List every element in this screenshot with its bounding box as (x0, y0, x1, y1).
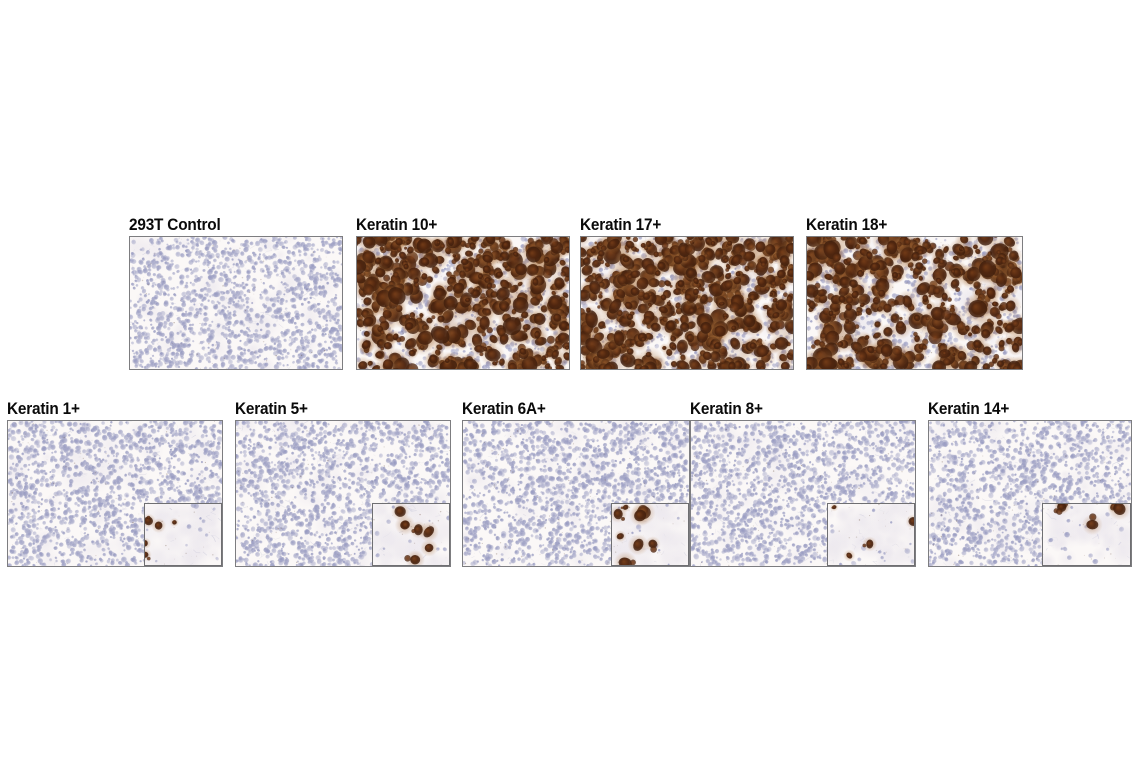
micrograph-image (690, 420, 916, 567)
micrograph-image (806, 236, 1023, 370)
micrograph-canvas (807, 237, 1022, 369)
magnified-inset (1042, 503, 1131, 566)
panel-label: Keratin 18+ (806, 217, 887, 234)
cell-field (357, 237, 569, 369)
panel-label: Keratin 8+ (690, 401, 763, 418)
panel-label: Keratin 5+ (235, 401, 308, 418)
figure-root: 293T ControlKeratin 10+Keratin 17+Kerati… (0, 0, 1141, 768)
micrograph-image (7, 420, 223, 567)
cell-field (581, 237, 793, 369)
panel-keratin-14: Keratin 14+ (928, 420, 1132, 567)
inset-canvas (1043, 504, 1130, 565)
micrograph-image (356, 236, 570, 370)
micrograph-canvas (581, 237, 793, 369)
panel-label: Keratin 17+ (580, 217, 661, 234)
panel-label: Keratin 14+ (928, 401, 1009, 418)
panel-keratin-10: Keratin 10+ (356, 236, 570, 370)
micrograph-image (462, 420, 690, 567)
inset-canvas (145, 504, 221, 565)
cell-field (807, 237, 1022, 369)
cell-field (130, 237, 342, 369)
panel-keratin-1: Keratin 1+ (7, 420, 223, 567)
panel-keratin-8: Keratin 8+ (690, 420, 916, 567)
panel-label: Keratin 6A+ (462, 401, 546, 418)
micrograph-image (235, 420, 451, 567)
inset-canvas (612, 504, 688, 565)
panel-keratin-5: Keratin 5+ (235, 420, 451, 567)
magnified-inset (144, 503, 222, 566)
micrograph-image (129, 236, 343, 370)
micrograph-image (928, 420, 1132, 567)
panel-label: 293T Control (129, 217, 221, 234)
panel-293t-control: 293T Control (129, 236, 343, 370)
inset-canvas (373, 504, 449, 565)
magnified-inset (372, 503, 450, 566)
magnified-inset (827, 503, 915, 566)
panel-keratin-17: Keratin 17+ (580, 236, 794, 370)
panel-keratin-6a: Keratin 6A+ (462, 420, 690, 567)
panel-label: Keratin 10+ (356, 217, 437, 234)
micrograph-image (580, 236, 794, 370)
inset-canvas (828, 504, 914, 565)
panel-label: Keratin 1+ (7, 401, 80, 418)
micrograph-canvas (357, 237, 569, 369)
micrograph-canvas (130, 237, 342, 369)
panel-keratin-18: Keratin 18+ (806, 236, 1023, 370)
magnified-inset (611, 503, 689, 566)
